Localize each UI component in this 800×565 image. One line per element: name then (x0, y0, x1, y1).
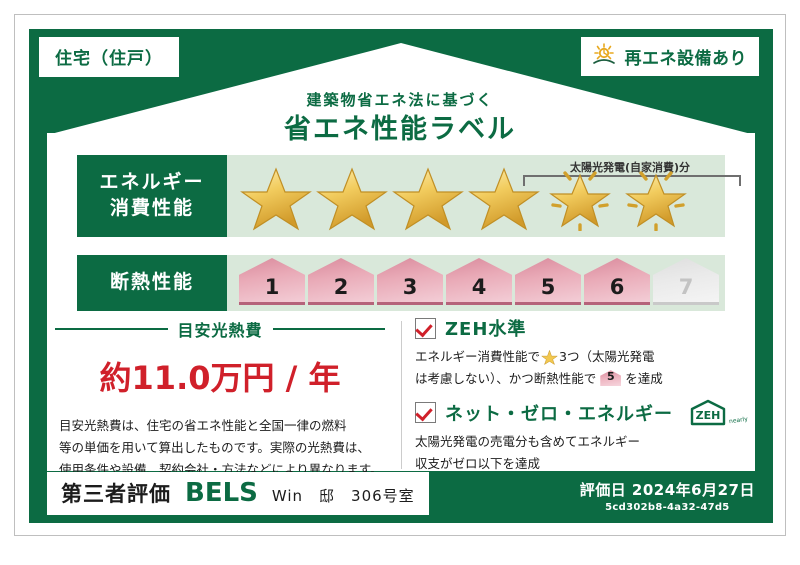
footer-evaluation: 第三者評価 BELS Win 邸 306号室 (47, 472, 429, 515)
footer-date-block: 評価日 2024年6月27日 5cd302b8-4a32-47d5 (580, 479, 755, 513)
zeh-line2-b: を達成 (625, 368, 663, 390)
sun-icon (591, 42, 617, 70)
insulation-level-number: 4 (472, 275, 487, 305)
insulation-level-5: 5 (515, 261, 581, 305)
insulation-level-number: 2 (334, 275, 349, 305)
zeh-line1-a: エネルギー消費性能で (415, 346, 540, 368)
cost-value: 約11.0万円 / 年 (55, 353, 385, 399)
zeh-logo: ZEH nearly (688, 399, 748, 426)
insulation-badge-number: 5 (600, 368, 621, 386)
insulation-level-7: 7 (653, 261, 719, 305)
star-icon (467, 161, 541, 231)
net-zero-header: ネット・ゼロ・エネルギー ZEH nearly (415, 399, 755, 426)
energy-performance-row: エネルギー 消費性能 太陽光発電(自家消費)分 (77, 155, 725, 237)
label-title: 省エネ性能ラベル (15, 107, 785, 146)
insulation-performance-key: 断熱性能 (77, 255, 227, 311)
insulation-level-6: 6 (584, 261, 650, 305)
star-icon (391, 161, 465, 231)
insulation-level-4: 4 (446, 261, 512, 305)
cost-panel: 目安光熱費 約11.0万円 / 年 目安光熱費は、住宅の省エネ性能と全国一律の燃… (47, 315, 393, 471)
net-zero-body: 太陽光発電の売電分も含めてエネルギー 収支がゼロ以下を達成 (415, 431, 755, 474)
insulation-level-3: 3 (377, 261, 443, 305)
star-icon (239, 161, 313, 231)
star-icon-solar (619, 161, 693, 231)
bottom-section: 目安光熱費 約11.0万円 / 年 目安光熱費は、住宅の省エネ性能と全国一律の燃… (47, 315, 755, 471)
net-zero-line-1: 太陽光発電の売電分も含めてエネルギー (415, 431, 755, 453)
cost-note: 目安光熱費は、住宅の省エネ性能と全国一律の燃料 等の単価を用いて算出したものです… (55, 415, 385, 481)
third-party-label: 第三者評価 (61, 478, 171, 508)
check-icon (415, 318, 436, 339)
bels-logo-text: BELS (185, 478, 258, 508)
insulation-level-1: 1 (239, 261, 305, 305)
star-icon-solar (543, 161, 617, 231)
rule-right (273, 328, 386, 330)
insulation-level-number: 5 (541, 275, 556, 305)
star-rating (227, 161, 693, 231)
zeh-level-line-2: は考慮しない）、かつ断熱性能で 5 を達成 (415, 368, 755, 390)
cost-note-line-2: 等の単価を用いて算出したものです。実際の光熱費は、 (59, 437, 381, 459)
zeh-line2-a: は考慮しない）、かつ断熱性能で (415, 368, 596, 390)
zeh-level-title: ZEH水準 (445, 315, 526, 341)
insulation-level-number: 3 (403, 275, 418, 305)
energy-performance-key: エネルギー 消費性能 (77, 155, 227, 237)
insulation-performance-value: 1 2 3 4 5 (227, 255, 725, 311)
zeh-level-body: エネルギー消費性能で 3つ（太陽光発電 は考慮しない）、かつ断熱性能で 5 (415, 346, 755, 389)
energy-key-line1: エネルギー (99, 170, 204, 196)
insulation-level-number: 6 (610, 275, 625, 305)
zeh-level-header: ZEH水準 (415, 315, 755, 341)
insulation-level-number: 1 (265, 275, 280, 305)
owner-label: Win 邸 306号室 (272, 485, 415, 506)
cost-heading-label: 目安光熱費 (178, 317, 263, 341)
zeh-logo-subtext: nearly (729, 416, 749, 426)
svg-text:ZEH: ZEH (696, 409, 721, 422)
check-icon (415, 402, 436, 423)
star-icon-inline (541, 349, 558, 365)
renewable-badge: 再エネ設備あり (581, 37, 760, 76)
insulation-level-scale: 1 2 3 4 5 (227, 261, 719, 305)
insulation-level-number: 7 (679, 275, 694, 305)
vertical-divider (401, 321, 402, 469)
insulation-badge-inline: 5 (600, 370, 621, 386)
zeh-line1-b: 3つ（太陽光発電 (559, 346, 654, 368)
cost-note-line-1: 目安光熱費は、住宅の省エネ性能と全国一律の燃料 (59, 415, 381, 437)
insulation-performance-row: 断熱性能 1 2 3 4 (77, 255, 725, 311)
net-zero-title: ネット・ゼロ・エネルギー (445, 400, 673, 426)
category-tag: 住宅（住戸） (39, 37, 179, 77)
cost-heading: 目安光熱費 (55, 317, 385, 341)
energy-performance-value: 太陽光発電(自家消費)分 (227, 155, 725, 237)
criteria-panel: ZEH水準 エネルギー消費性能で 3つ（太陽光発電 は考慮しない）、かつ断熱性能 (415, 315, 755, 484)
star-icon (315, 161, 389, 231)
net-zero-block: ネット・ゼロ・エネルギー ZEH nearly 太陽光発電の売電分も含めてエネル… (415, 399, 755, 474)
net-zero-line-2: 収支がゼロ以下を達成 (415, 453, 755, 475)
evaluation-date: 評価日 2024年6月27日 (580, 479, 755, 500)
zeh-level-line-1: エネルギー消費性能で 3つ（太陽光発電 (415, 346, 755, 368)
zeh-level-block: ZEH水準 エネルギー消費性能で 3つ（太陽光発電 は考慮しない）、かつ断熱性能 (415, 315, 755, 389)
insulation-level-2: 2 (308, 261, 374, 305)
bels-energy-label: 住宅（住戸） 再エネ設備あり 建築物省エネ法に基づく 省エネ性能ラベル (14, 14, 786, 536)
rule-left (55, 328, 168, 330)
evaluation-id: 5cd302b8-4a32-47d5 (580, 502, 755, 513)
energy-key-line2: 消費性能 (110, 196, 194, 222)
renewable-label: 再エネ設備あり (625, 44, 748, 69)
